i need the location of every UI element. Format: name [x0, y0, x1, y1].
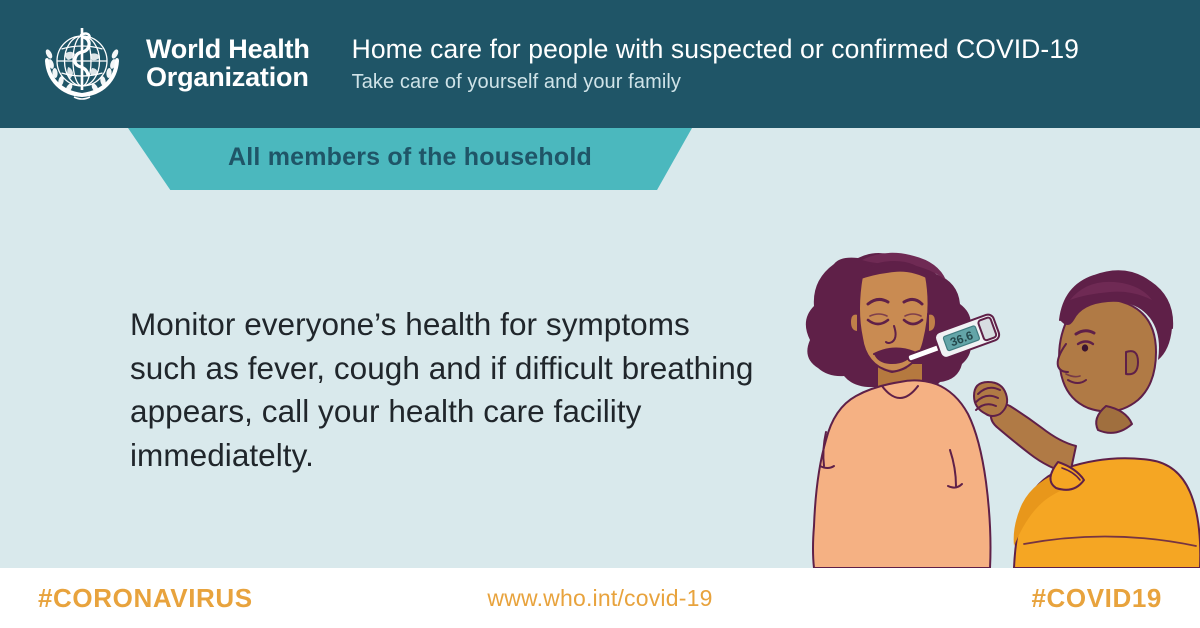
content-area: All members of the household Monitor eve…	[0, 128, 1200, 568]
who-covid-url[interactable]: www.who.int/covid-19	[0, 585, 1200, 612]
page-header: World Health Organization Home care for …	[0, 0, 1200, 128]
page-subtitle: Take care of yourself and your family	[352, 69, 1200, 95]
page-footer: #CORONAVIRUS www.who.int/covid-19 #COVID…	[0, 568, 1200, 628]
who-wordmark-line2: Organization	[146, 64, 310, 92]
who-wordmark: World Health Organization	[146, 36, 310, 91]
who-wordmark-line1: World Health	[146, 36, 310, 64]
section-banner: All members of the household	[128, 128, 692, 190]
who-emblem-icon	[32, 23, 132, 105]
banner-label: All members of the household	[128, 128, 692, 190]
page-title: Home care for people with suspected or c…	[352, 33, 1200, 66]
main-message: Monitor everyone’s health for symptoms s…	[130, 303, 760, 478]
hashtag-covid19: #COVID19	[1031, 583, 1162, 614]
two-people-taking-temperature-illustration: 36.6	[770, 168, 1200, 568]
header-text-block: Home care for people with suspected or c…	[352, 33, 1200, 95]
